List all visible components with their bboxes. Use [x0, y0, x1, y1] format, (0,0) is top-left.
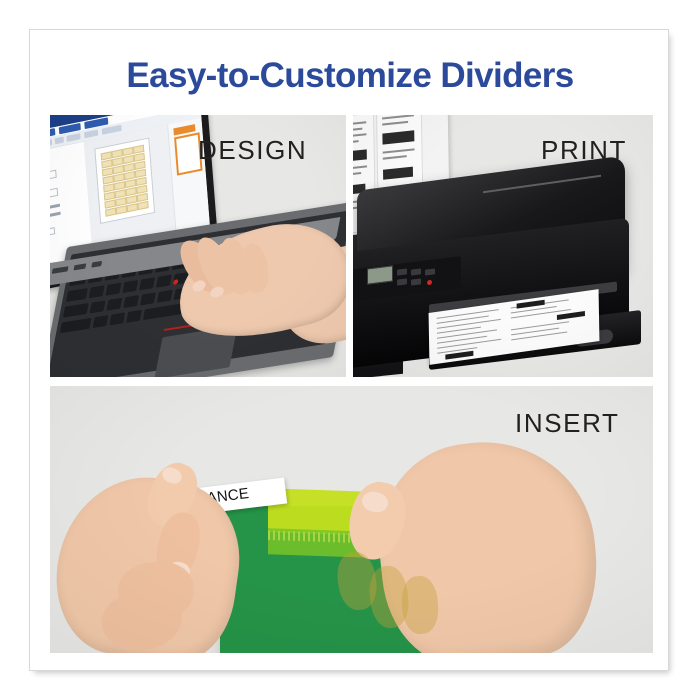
poster-canvas: Easy-to-Customize Dividers: [0, 0, 700, 700]
panel-label-print: PRINT: [541, 135, 627, 166]
form-input: [50, 170, 57, 183]
label-cell-grid: [100, 143, 150, 217]
form-input: [50, 188, 58, 201]
panel-insert: FINANCE INSERT: [50, 386, 653, 653]
form-label: [50, 212, 61, 221]
form-input: [50, 227, 55, 238]
panel-label-design: DESIGN: [198, 135, 307, 166]
page-title: Easy-to-Customize Dividers: [30, 56, 670, 96]
panel-print: PRINT: [353, 115, 653, 377]
sheet-preview: [94, 137, 155, 223]
panel-design: DESIGN: [50, 115, 346, 377]
poster-card: Easy-to-Customize Dividers: [29, 29, 669, 671]
panel-label-insert: INSERT: [515, 408, 619, 439]
printer-display: [367, 265, 393, 284]
